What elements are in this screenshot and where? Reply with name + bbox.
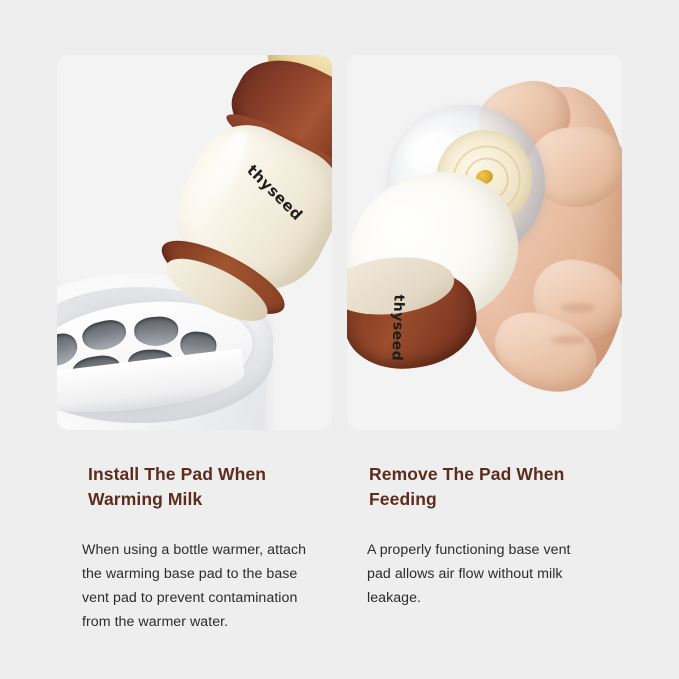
bottle-warmer-scene: thyseed (57, 55, 332, 430)
install-pad-heading: Install The Pad When Warming Milk (88, 462, 304, 512)
remove-pad-text-column: Remove The Pad When Feeding A properly f… (369, 462, 591, 512)
remove-pad-heading: Remove The Pad When Feeding (369, 462, 601, 512)
install-pad-body: When using a bottle warmer, attach the w… (82, 538, 320, 634)
hand-holding-bottle-scene: thyseed (347, 55, 622, 430)
brand-logo: thyseed (388, 294, 406, 361)
pad-vent-hole (80, 317, 129, 354)
install-pad-text-column: Install The Pad When Warming Milk When u… (88, 462, 310, 512)
remove-pad-image-panel: thyseed (347, 55, 622, 430)
infographic-page: thyseed (0, 0, 679, 679)
remove-pad-body: A properly functioning base vent pad all… (367, 538, 593, 610)
knuckle-crease (551, 335, 585, 345)
pad-vent-hole (134, 316, 179, 347)
install-pad-image-panel: thyseed (57, 55, 332, 430)
image-panels: thyseed (0, 0, 679, 440)
